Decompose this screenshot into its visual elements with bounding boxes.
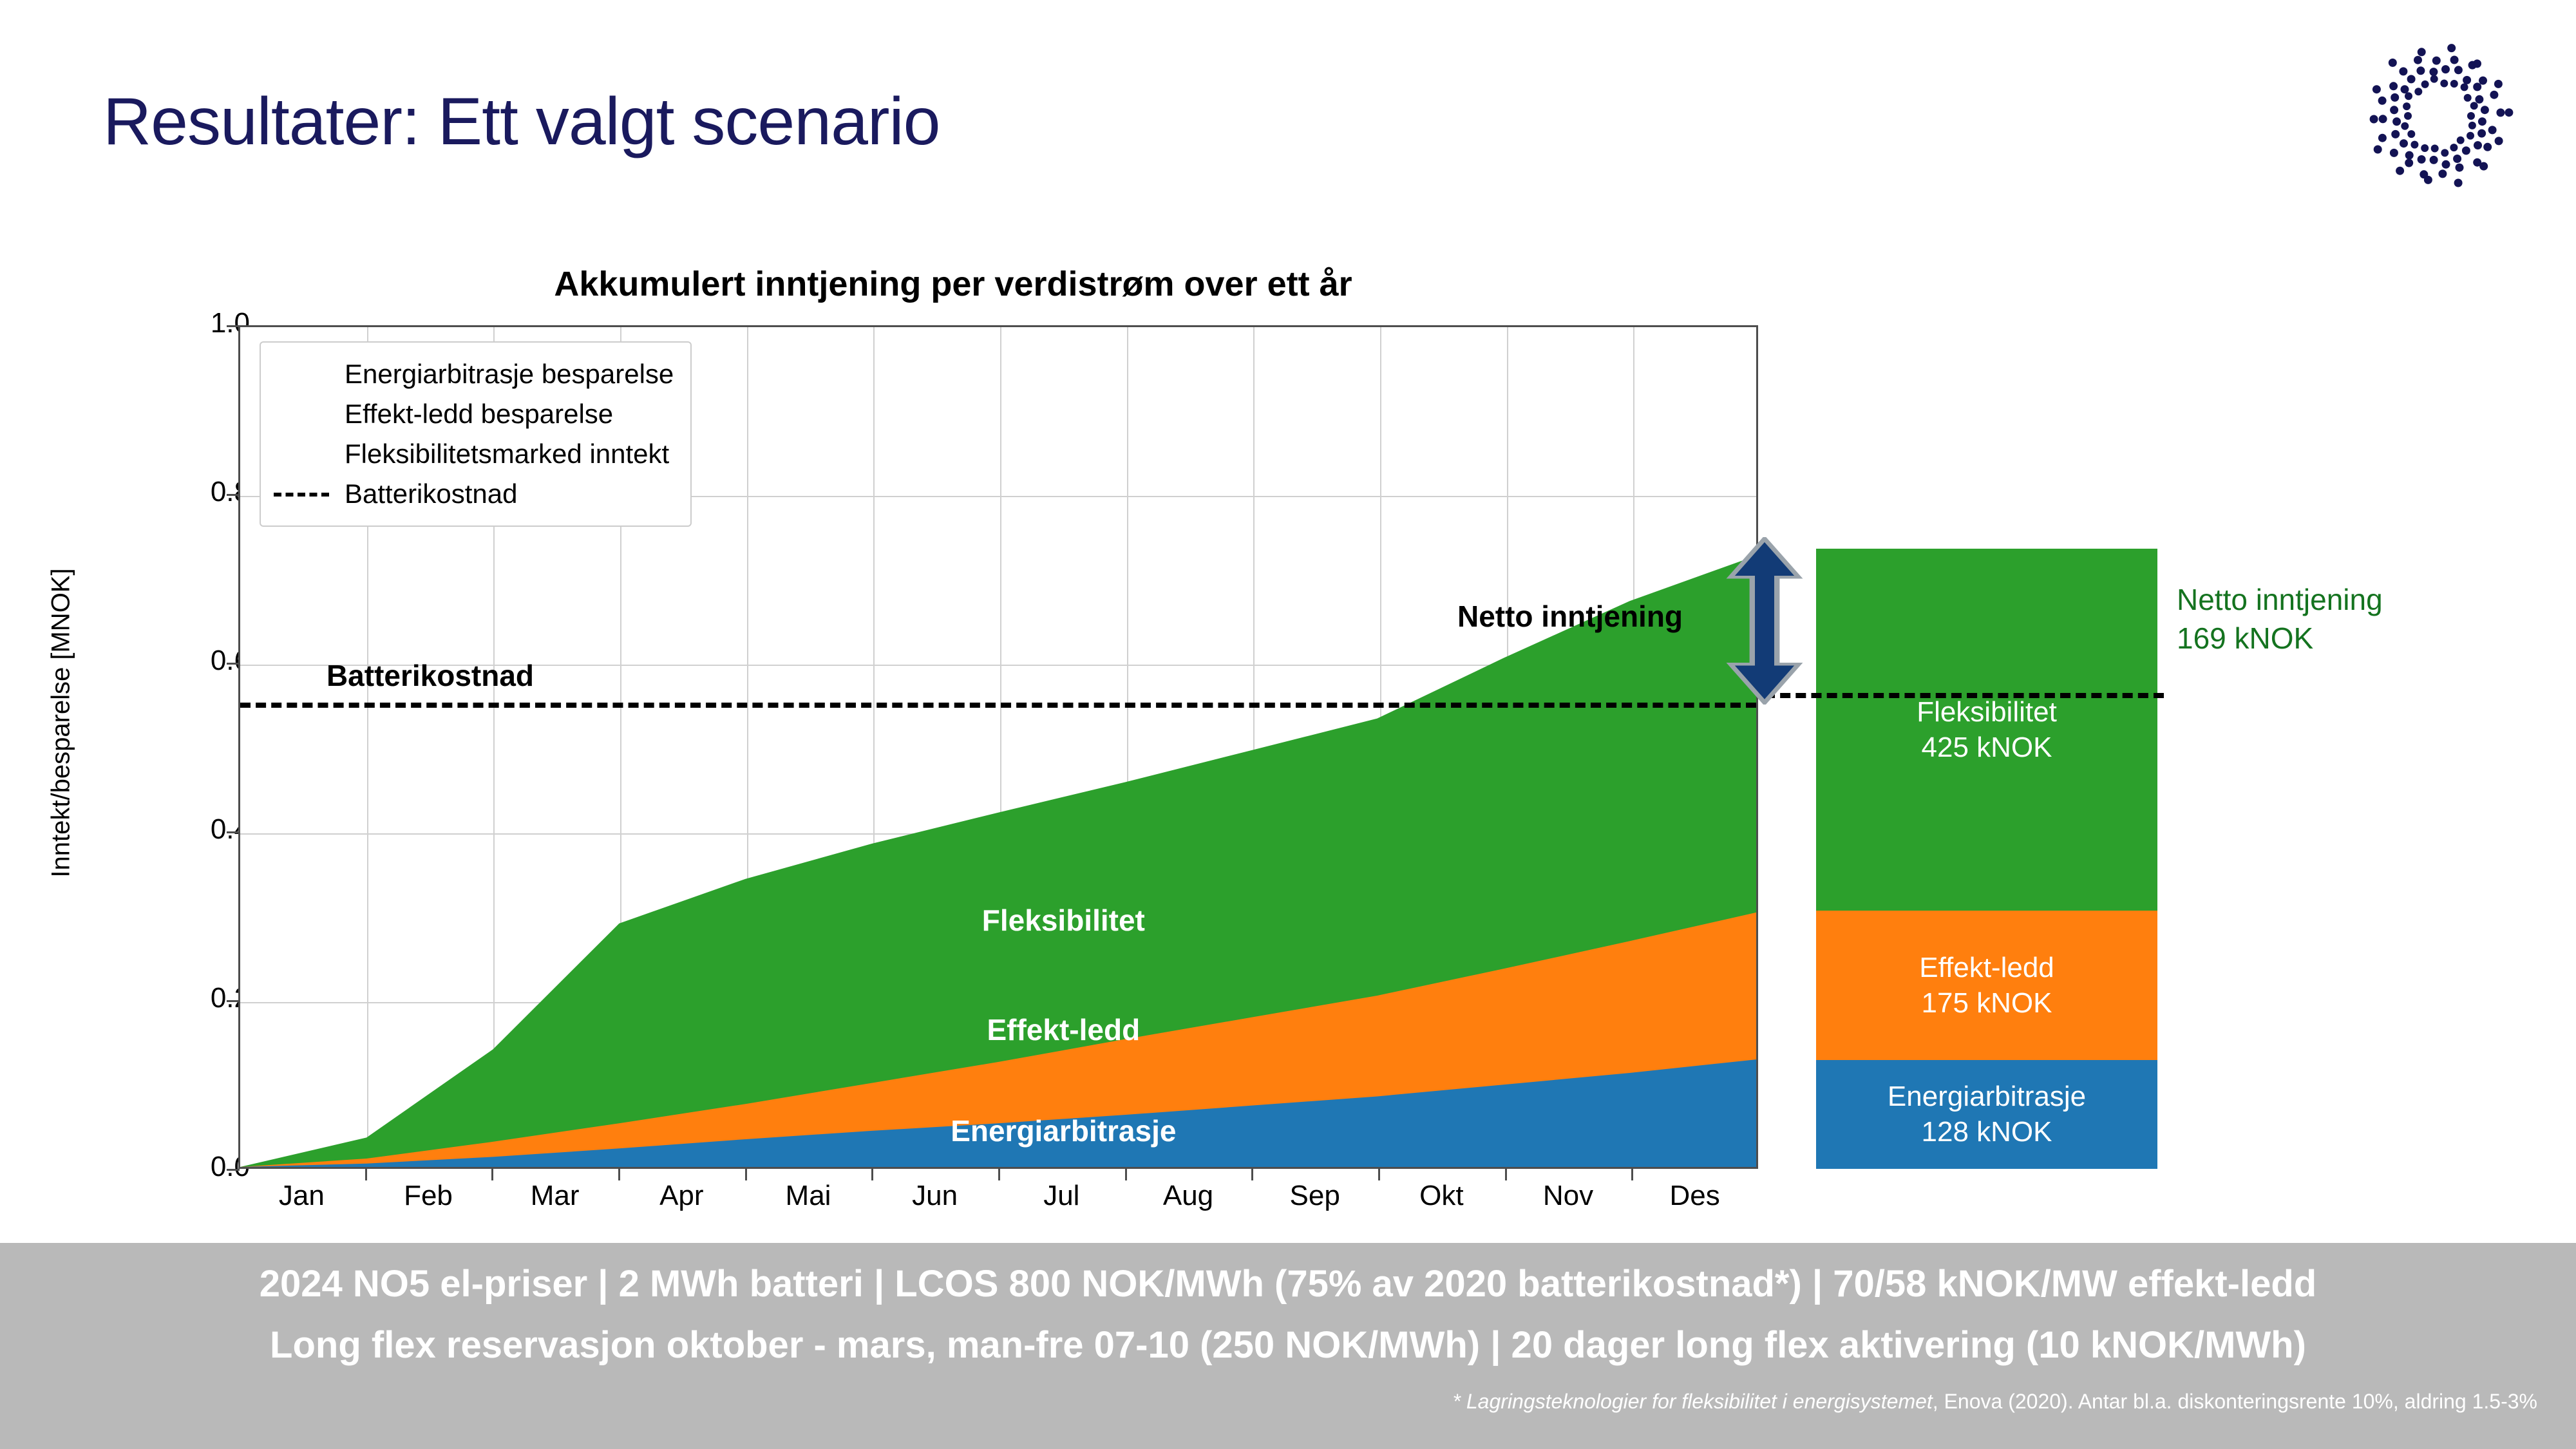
chart-legend: Energiarbitrasje besparelse Effekt-ledd … (260, 341, 692, 527)
summary-segment-value: 175 kNOK (1922, 985, 2052, 1021)
annotation-energiarbitrasje: Energiarbitrasje (951, 1113, 1176, 1148)
summary-segment-effekt-ledd: Effekt-ledd 175 kNOK (1816, 911, 2157, 1059)
netto-inntjening-callout: Netto inntjening 169 kNOK (2177, 581, 2383, 658)
legend-label: Fleksibilitetsmarked inntekt (345, 439, 669, 469)
x-tick-mark (998, 1169, 1000, 1180)
summary-segment-value: 425 kNOK (1922, 730, 2052, 765)
chart-title: Akkumulert inntjening per verdistrøm ove… (155, 264, 1752, 304)
x-tick-mark (365, 1169, 367, 1180)
legend-item-energiarbitrasje[interactable]: Energiarbitrasje besparelse (274, 354, 674, 394)
y-tick-label: 0.4 (121, 813, 250, 846)
summary-segment-name: Effekt-ledd (1919, 950, 2054, 985)
legend-swatch-blue (274, 362, 329, 386)
x-tick-mark (1505, 1169, 1507, 1180)
y-tick-label: 0.2 (121, 982, 250, 1014)
assumptions-line-2: Long flex reservasjon oktober - mars, ma… (0, 1323, 2576, 1367)
y-tick-label: 0.8 (121, 476, 250, 508)
y-tick-label: 1.0 (121, 307, 250, 339)
footnote-rest: , Enova (2020). Antar bl.a. diskontering… (1933, 1390, 2537, 1413)
y-tick-mark (227, 325, 240, 327)
legend-item-effekt-ledd[interactable]: Effekt-ledd besparelse (274, 394, 674, 434)
chart-y-axis-label: Inntekt/besparelse [MNOK] (47, 478, 76, 968)
legend-dash-line (274, 482, 329, 506)
annotation-fleksibilitet: Fleksibilitet (982, 903, 1145, 938)
x-tick-mark (871, 1169, 873, 1180)
summary-segment-energiarbitrasje: Energiarbitrasje 128 kNOK (1816, 1060, 2157, 1169)
y-tick-mark (227, 1000, 240, 1002)
x-tick-mark (618, 1169, 620, 1180)
legend-item-batterikostnad[interactable]: Batterikostnad (274, 474, 674, 514)
summary-stacked-bar: Fleksibilitet 425 kNOK Effekt-ledd 175 k… (1816, 549, 2157, 1169)
netto-value: 169 kNOK (2177, 620, 2383, 658)
footnote: * Lagringsteknologier for fleksibilitet … (0, 1390, 2576, 1414)
summary-segment-fleksibilitet: Fleksibilitet 425 kNOK (1816, 549, 2157, 911)
y-tick-mark (227, 663, 240, 665)
y-tick-mark (227, 831, 240, 833)
dotted-ring-logo (2362, 39, 2517, 193)
summary-segment-name: Energiarbitrasje (1888, 1079, 2086, 1114)
summary-segment-name: Fleksibilitet (1917, 694, 2057, 730)
y-tick-mark (227, 1169, 240, 1171)
summary-batterikostnad-line (1765, 693, 2164, 698)
netto-inntjening-arrow (1726, 537, 1803, 705)
legend-swatch-green (274, 442, 329, 466)
legend-swatch-orange (274, 402, 329, 426)
summary-segment-value: 128 kNOK (1922, 1114, 2052, 1150)
netto-label: Netto inntjening (2177, 581, 2383, 620)
legend-item-fleksibilitetsmarked[interactable]: Fleksibilitetsmarked inntekt (274, 434, 674, 474)
chart-plot-area: Batterikostnad Netto inntjening Fleksibi… (238, 325, 1758, 1169)
page-title: Resultater: Ett valgt scenario (103, 84, 940, 160)
y-tick-label: 0.0 (121, 1151, 250, 1183)
x-tick-mark (745, 1169, 747, 1180)
batterikostnad-threshold-line (240, 703, 1756, 708)
footnote-source-italic: * Lagringsteknologier for fleksibilitet … (1453, 1390, 1933, 1413)
x-tick-mark (1251, 1169, 1253, 1180)
annotation-netto-inntjening: Netto inntjening (1457, 599, 1683, 634)
legend-label: Effekt-ledd besparelse (345, 399, 613, 430)
annotation-batterikostnad: Batterikostnad (327, 658, 534, 693)
x-tick-mark (1631, 1169, 1633, 1180)
x-tick-label: Des (1618, 1180, 1772, 1212)
x-tick-mark (1125, 1169, 1127, 1180)
legend-label: Energiarbitrasje besparelse (345, 359, 674, 390)
x-tick-mark (491, 1169, 493, 1180)
assumptions-line-1: 2024 NO5 el-priser | 2 MWh batteri | LCO… (0, 1262, 2576, 1305)
x-tick-mark (1378, 1169, 1380, 1180)
y-tick-mark (227, 494, 240, 496)
summary-panel: Fleksibilitet 425 kNOK Effekt-ledd 175 k… (1816, 258, 2576, 1236)
assumptions-banner: 2024 NO5 el-priser | 2 MWh batteri | LCO… (0, 1243, 2576, 1449)
legend-label: Batterikostnad (345, 478, 518, 509)
y-tick-label: 0.6 (121, 645, 250, 677)
chart-panel: Akkumulert inntjening per verdistrøm ove… (0, 258, 1803, 1236)
annotation-effekt-ledd: Effekt-ledd (987, 1012, 1140, 1047)
